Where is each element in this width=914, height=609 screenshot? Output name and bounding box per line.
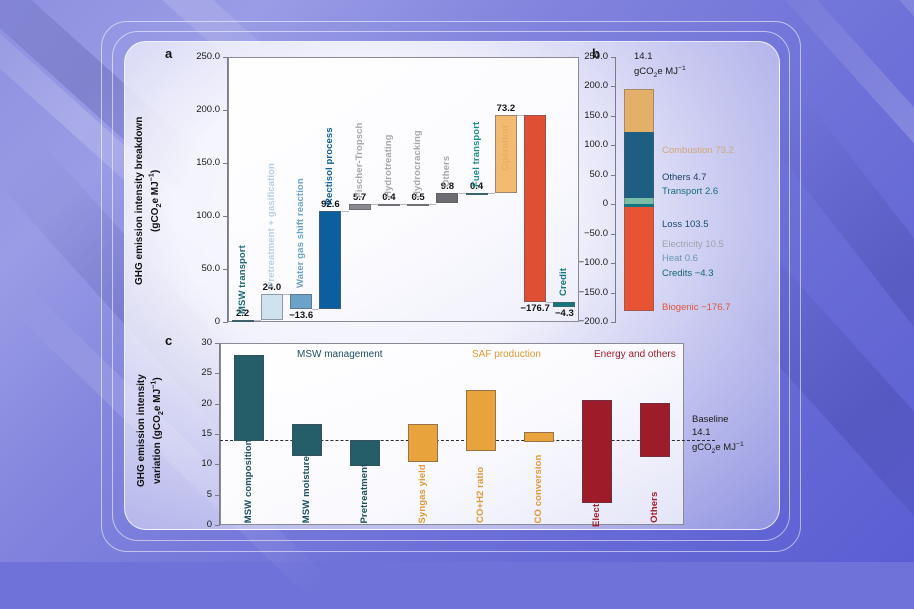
panel-c-bar [466,390,497,451]
panel-letter-c: c [165,333,172,348]
panel-b-total-note: 14.1 gCO2e MJ−1 [634,51,686,80]
panel-c-category-label: CO+H2 ratio [475,455,486,523]
panel-c-y-tick [215,373,219,374]
panel-b-y-ticklabel: −100.0 [556,257,608,268]
panel-a-category-label: Fuel transport [471,75,482,187]
panel-b-legend-label: Electricity 10.5 [662,239,724,250]
panel-c-bar [292,424,323,456]
panel-b-y-tick [611,293,615,294]
panel-c-axis-title-line1: GHG emission intensity [136,375,147,488]
panel-c-bar [408,424,439,462]
panel-c-category-label: Others [649,461,660,523]
panel-c-y-ticklabel: 0 [176,519,212,530]
panel-c-group-label: SAF production [472,349,541,360]
panel-b-y-ticklabel: −150.0 [556,287,608,298]
panel-b-y-tick [611,263,615,264]
panel-b-total-value: 14.1 [634,51,653,62]
panel-a-category-label: MSW transport [237,202,248,314]
panel-a-bar [553,302,575,307]
panel-c-group-label: MSW management [297,349,383,360]
panel-b-legend-label: Credits −4.3 [662,268,714,279]
panel-a-bar [349,204,371,210]
panel-a-y-tick [223,269,227,270]
panel-b-y-ticklabel: −200.0 [556,316,608,327]
panel-b-y-ticklabel: −50.0 [556,228,608,239]
panel-c-y-ticklabel: 25 [176,367,212,378]
panel-b-y-tick [611,116,615,117]
panel-c-category-label: Syngas yield [417,467,428,524]
panel-a-y-tick [223,57,227,58]
panel-a-y-ticklabel: 100.0 [168,210,220,221]
panel-b-y-ticklabel: 100.0 [556,139,608,150]
panel-c-baseline-unit: gCO2e MJ−1 [692,442,744,453]
panel-a-bar [290,294,312,308]
panel-c-bar [234,355,265,441]
panel-c-baseline-note: Baseline 14.1 gCO2e MJ−1 [692,414,744,456]
panel-a-y-tick [223,322,227,323]
panel-a-y-tick [223,216,227,217]
panel-c-category-label: MSW composition [243,445,254,523]
panel-c-y-ticklabel: 5 [176,489,212,500]
panel-a-connector [371,204,378,205]
panel-a-category-label: Rectisol process [324,93,335,205]
panel-a-y-ticklabel: 250.0 [168,51,220,62]
panel-a-y-ticklabel: 200.0 [168,104,220,115]
panel-a-connector [517,115,524,116]
panel-c-y-ticklabel: 20 [176,398,212,409]
panel-a-connector [400,204,407,205]
panel-c-y-tick [215,464,219,465]
panel-b-y-tick [611,175,615,176]
panel-a-bar [319,211,341,309]
panel-b-y-tick [611,145,615,146]
panel-b-total-unit: gCO2e MJ−1 [634,66,686,77]
panel-c-axis-title-line2: variation (gCO2e MJ−1) [152,378,163,485]
panel-a-y-axis [227,57,228,323]
panel-b-y-tick [611,234,615,235]
panel-c-category-label: Electricity [591,507,602,527]
panel-a-axis-title-line1: GHG emission intensity breakdown [134,117,145,285]
panel-a-bar [378,204,400,206]
panel-c-y-ticklabel: 15 [176,428,212,439]
panel-b-bar-outline [624,89,654,311]
panel-b-legend-label: Transport 2.6 [662,186,718,197]
panel-b-legend-label: Loss 103.5 [662,219,708,230]
panel-c-baseline-label: Baseline [692,414,728,425]
panel-b-y-ticklabel: 150.0 [556,110,608,121]
panel-a-y-tick [223,163,227,164]
panel-a-connector [459,193,466,194]
panel-c-category-label: Pretreatment [359,470,370,524]
panel-b-legend-label: Heat 0.6 [662,253,698,264]
panel-b-y-tick [611,86,615,87]
panel-a-connector [283,294,290,295]
panel-a-category-label: Hydrotreating [383,86,394,198]
panel-b-y-axis [615,57,616,323]
panel-a-connector [254,320,261,321]
panel-a-y-ticklabel: 50.0 [168,263,220,274]
panel-c-bar [350,440,381,466]
panel-a-category-label: Water gas shift reaction [295,176,306,288]
panel-a-bar [407,204,429,206]
panel-a-value-label: −13.6 [267,310,335,321]
panel-a-category-label: Pretreatment + gasification [266,176,277,288]
panel-c-group-label: Energy and others [594,349,676,360]
panel-c-y-tick [215,525,219,526]
panel-c-y-ticklabel: 30 [176,337,212,348]
panel-a-category-label: Fischer-Tropsch [354,86,365,198]
panel-c-baseline-value: 14.1 [692,427,711,438]
panel-a-bar [232,320,254,322]
panel-b-y-ticklabel: 250.0 [556,51,608,62]
panel-b-y-tick [611,322,615,323]
panel-a-category-label: Operation [500,59,511,171]
panel-c-bar [640,403,671,457]
scientific-figure: a b c GHG emission intensity breakdown (… [124,41,780,530]
panel-a-y-ticklabel: 150.0 [168,157,220,168]
panel-a-y-tick [223,110,227,111]
panel-a-category-label: Others [441,75,452,187]
panel-c-y-ticklabel: 10 [176,458,212,469]
panel-a-axis-title: GHG emission intensity breakdown (gCO2e … [134,101,163,301]
panel-c-y-axis [219,343,220,526]
panel-b-y-ticklabel: 50.0 [556,169,608,180]
panel-a-axis-title-line2: (gCO2e MJ−1) [150,170,161,232]
panel-b-legend-label: Combustion 73.2 [662,145,734,156]
panel-b-y-ticklabel: 200.0 [556,80,608,91]
panel-a-category-label: Biogenic content [529,121,540,239]
panel-b-legend-label: Others 4.7 [662,172,706,183]
panel-a-bar [466,193,488,195]
panel-c-axis-title: GHG emission intensity variation (gCO2e … [136,361,165,501]
panel-b-y-tick [611,57,615,58]
panel-c-y-tick [215,495,219,496]
panel-c-y-tick [215,343,219,344]
panel-c-plot-box [220,343,684,525]
panel-c-category-label: MSW moisture [301,460,312,523]
panel-c-category-label: CO conversion [533,447,544,524]
panel-a-connector [342,211,349,212]
panel-a-bar [436,193,458,203]
panel-a-connector [488,193,495,194]
panel-c-y-tick [215,434,219,435]
panel-b-legend-label: Biogenic −176.7 [662,302,730,313]
panel-a-connector [429,204,436,205]
panel-c-bar [524,432,555,443]
panel-b-y-tick [611,204,615,205]
panel-b-y-ticklabel: 0 [556,198,608,209]
panel-c-y-tick [215,404,219,405]
